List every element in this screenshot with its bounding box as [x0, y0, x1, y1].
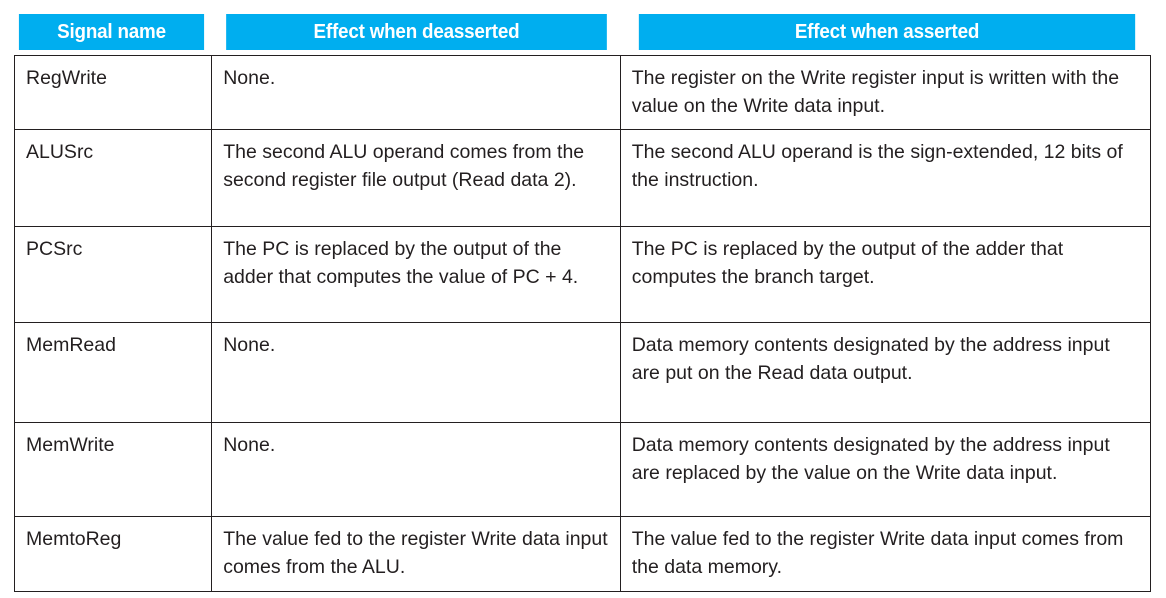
- signal-name-text: RegWrite: [26, 65, 200, 93]
- cell-signal-name: ALUSrc: [15, 130, 212, 227]
- effect-deasserted-text: The PC is replaced by the output of the …: [223, 236, 609, 291]
- signal-name-text: MemtoReg: [26, 526, 200, 554]
- cell-effect-asserted: The PC is replaced by the output of the …: [620, 227, 1150, 323]
- column-header-effect-deasserted: Effect when deasserted: [226, 14, 607, 50]
- cell-signal-name: MemWrite: [15, 423, 212, 517]
- effect-asserted-text: The PC is replaced by the output of the …: [632, 236, 1139, 291]
- cell-effect-deasserted: None.: [212, 423, 621, 517]
- table-row: PCSrc The PC is replaced by the output o…: [15, 227, 1151, 323]
- effect-asserted-text: Data memory contents designated by the a…: [632, 432, 1139, 487]
- header-gap-2: [619, 14, 623, 50]
- cell-signal-name: PCSrc: [15, 227, 212, 323]
- effect-asserted-text: Data memory contents designated by the a…: [632, 332, 1139, 387]
- cell-effect-asserted: The second ALU operand is the sign-exten…: [620, 130, 1150, 227]
- cell-effect-asserted: Data memory contents designated by the a…: [620, 323, 1150, 423]
- column-header-effect-deasserted-label: Effect when deasserted: [314, 21, 520, 44]
- cell-effect-deasserted: The PC is replaced by the output of the …: [212, 227, 621, 323]
- effect-asserted-text: The second ALU operand is the sign-exten…: [632, 139, 1139, 194]
- table-row: MemRead None. Data memory contents desig…: [15, 323, 1151, 423]
- effect-deasserted-text: The second ALU operand comes from the se…: [223, 139, 609, 194]
- column-header-effect-asserted-label: Effect when asserted: [795, 21, 979, 44]
- cell-effect-deasserted: None.: [212, 56, 621, 130]
- table-body: RegWrite None. The register on the Write…: [15, 56, 1151, 592]
- effect-asserted-text: The register on the Write register input…: [632, 65, 1139, 120]
- cell-signal-name: MemtoReg: [15, 517, 212, 591]
- table-row: ALUSrc The second ALU operand comes from…: [15, 130, 1151, 227]
- table-row: RegWrite None. The register on the Write…: [15, 56, 1151, 130]
- signal-name-text: MemWrite: [26, 432, 200, 460]
- column-header-signal-name-label: Signal name: [57, 21, 166, 44]
- column-header-signal-name: Signal name: [19, 14, 204, 50]
- signal-name-text: PCSrc: [26, 236, 200, 264]
- effect-deasserted-text: None.: [223, 432, 609, 460]
- cell-signal-name: RegWrite: [15, 56, 212, 130]
- effect-deasserted-text: The value fed to the register Write data…: [223, 526, 609, 581]
- effect-deasserted-text: None.: [223, 332, 609, 360]
- header-gap-1: [210, 14, 214, 50]
- cell-effect-asserted: The value fed to the register Write data…: [620, 517, 1150, 591]
- cell-effect-asserted: Data memory contents designated by the a…: [620, 423, 1150, 517]
- table-row: MemtoReg The value fed to the register W…: [15, 517, 1151, 591]
- cell-effect-deasserted: None.: [212, 323, 621, 423]
- cell-effect-deasserted: The second ALU operand comes from the se…: [212, 130, 621, 227]
- cell-effect-asserted: The register on the Write register input…: [620, 56, 1150, 130]
- signal-name-text: ALUSrc: [26, 139, 200, 167]
- control-signal-table-page: Signal name Effect when deasserted Effec…: [0, 0, 1166, 598]
- cell-signal-name: MemRead: [15, 323, 212, 423]
- table-row: MemWrite None. Data memory contents desi…: [15, 423, 1151, 517]
- effect-asserted-text: The value fed to the register Write data…: [632, 526, 1139, 581]
- cell-effect-deasserted: The value fed to the register Write data…: [212, 517, 621, 591]
- table-header-row: Signal name Effect when deasserted Effec…: [13, 14, 1151, 50]
- signal-name-text: MemRead: [26, 332, 200, 360]
- effect-deasserted-text: None.: [223, 65, 609, 93]
- control-signal-table: RegWrite None. The register on the Write…: [14, 55, 1151, 592]
- column-header-effect-asserted: Effect when asserted: [639, 14, 1135, 50]
